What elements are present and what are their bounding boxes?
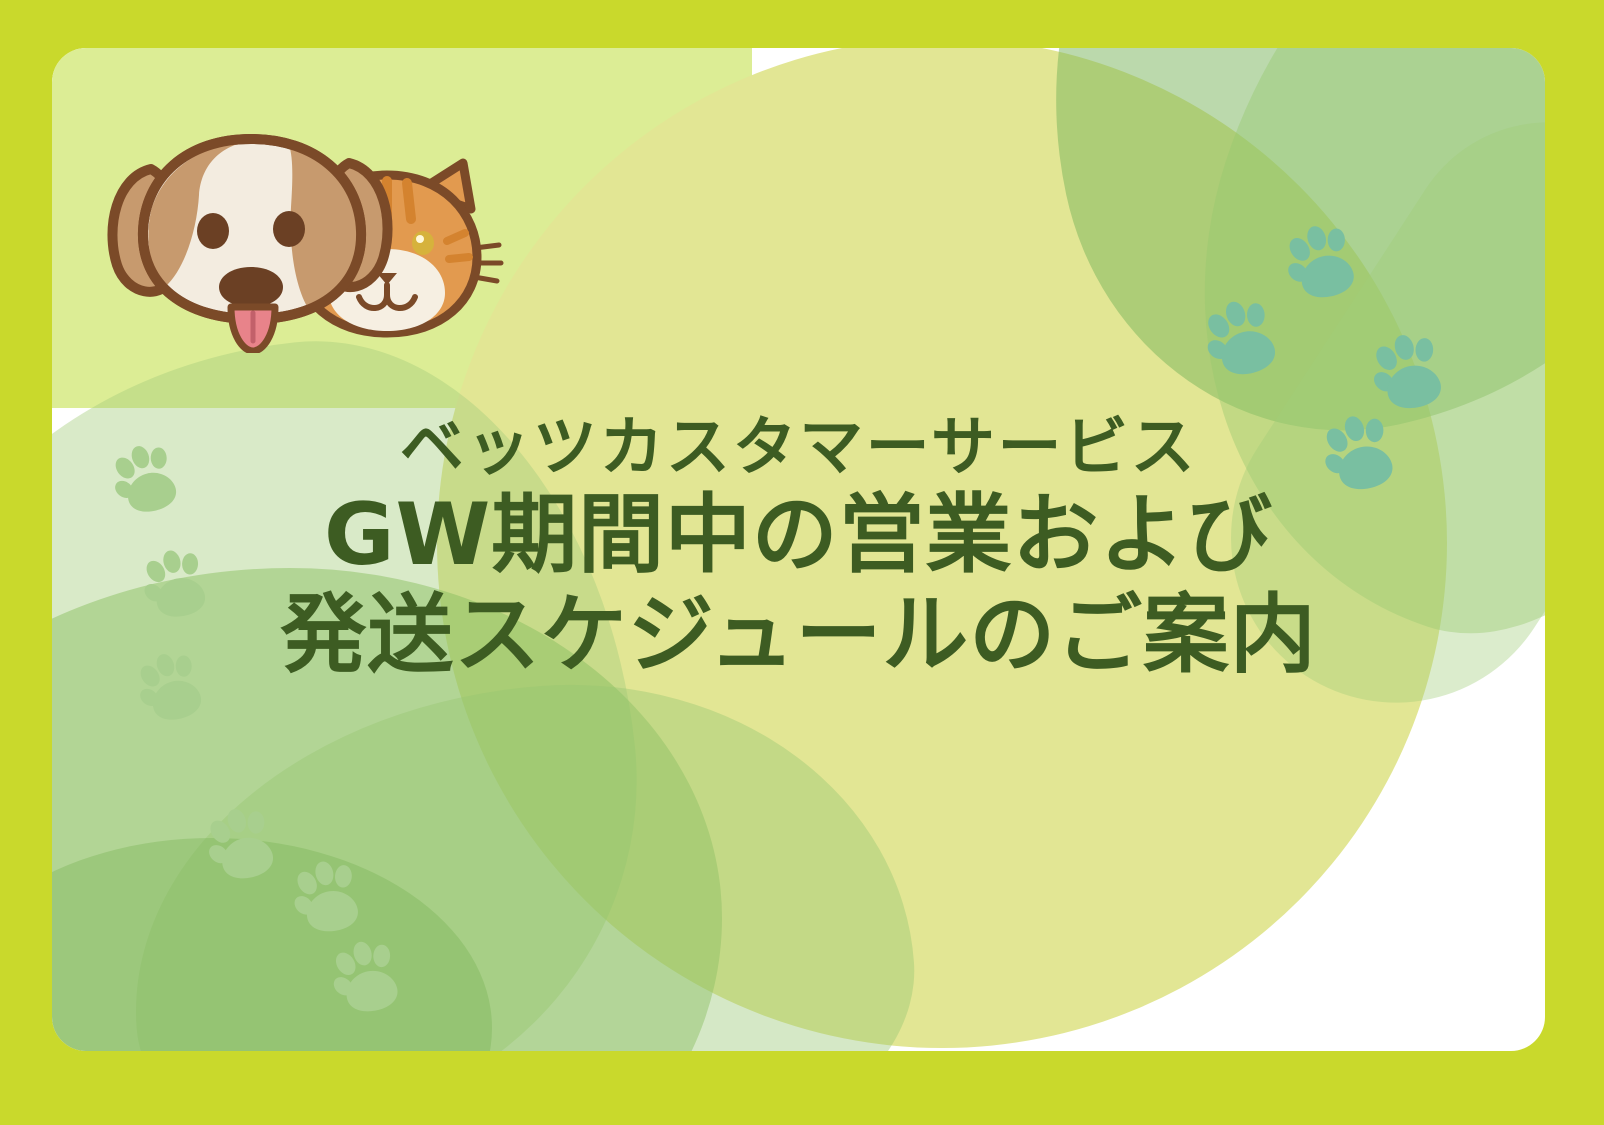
headline-line-2: GW期間中の営業および: [52, 492, 1545, 578]
headline-block: ベッツカスタマーサービス GW期間中の営業および 発送スケジュールのご案内: [52, 416, 1545, 678]
inner-card: ベッツカスタマーサービス GW期間中の営業および 発送スケジュールのご案内: [52, 48, 1545, 1051]
paw-print-icon: [285, 851, 375, 941]
headline-line-1: ベッツカスタマーサービス: [52, 416, 1545, 480]
paw-print-icon: [323, 930, 416, 1023]
paw-print-icon: [1275, 212, 1372, 309]
dog-and-cat-illustration: [97, 103, 517, 353]
card-background-layer: ベッツカスタマーサービス GW期間中の営業および 発送スケジュールのご案内: [52, 48, 1545, 1051]
headline-line-3: 発送スケジュールのご案内: [52, 592, 1545, 678]
paw-print-icon: [197, 796, 292, 891]
banner-root: ベッツカスタマーサービス GW期間中の営業および 発送スケジュールのご案内: [0, 0, 1604, 1125]
